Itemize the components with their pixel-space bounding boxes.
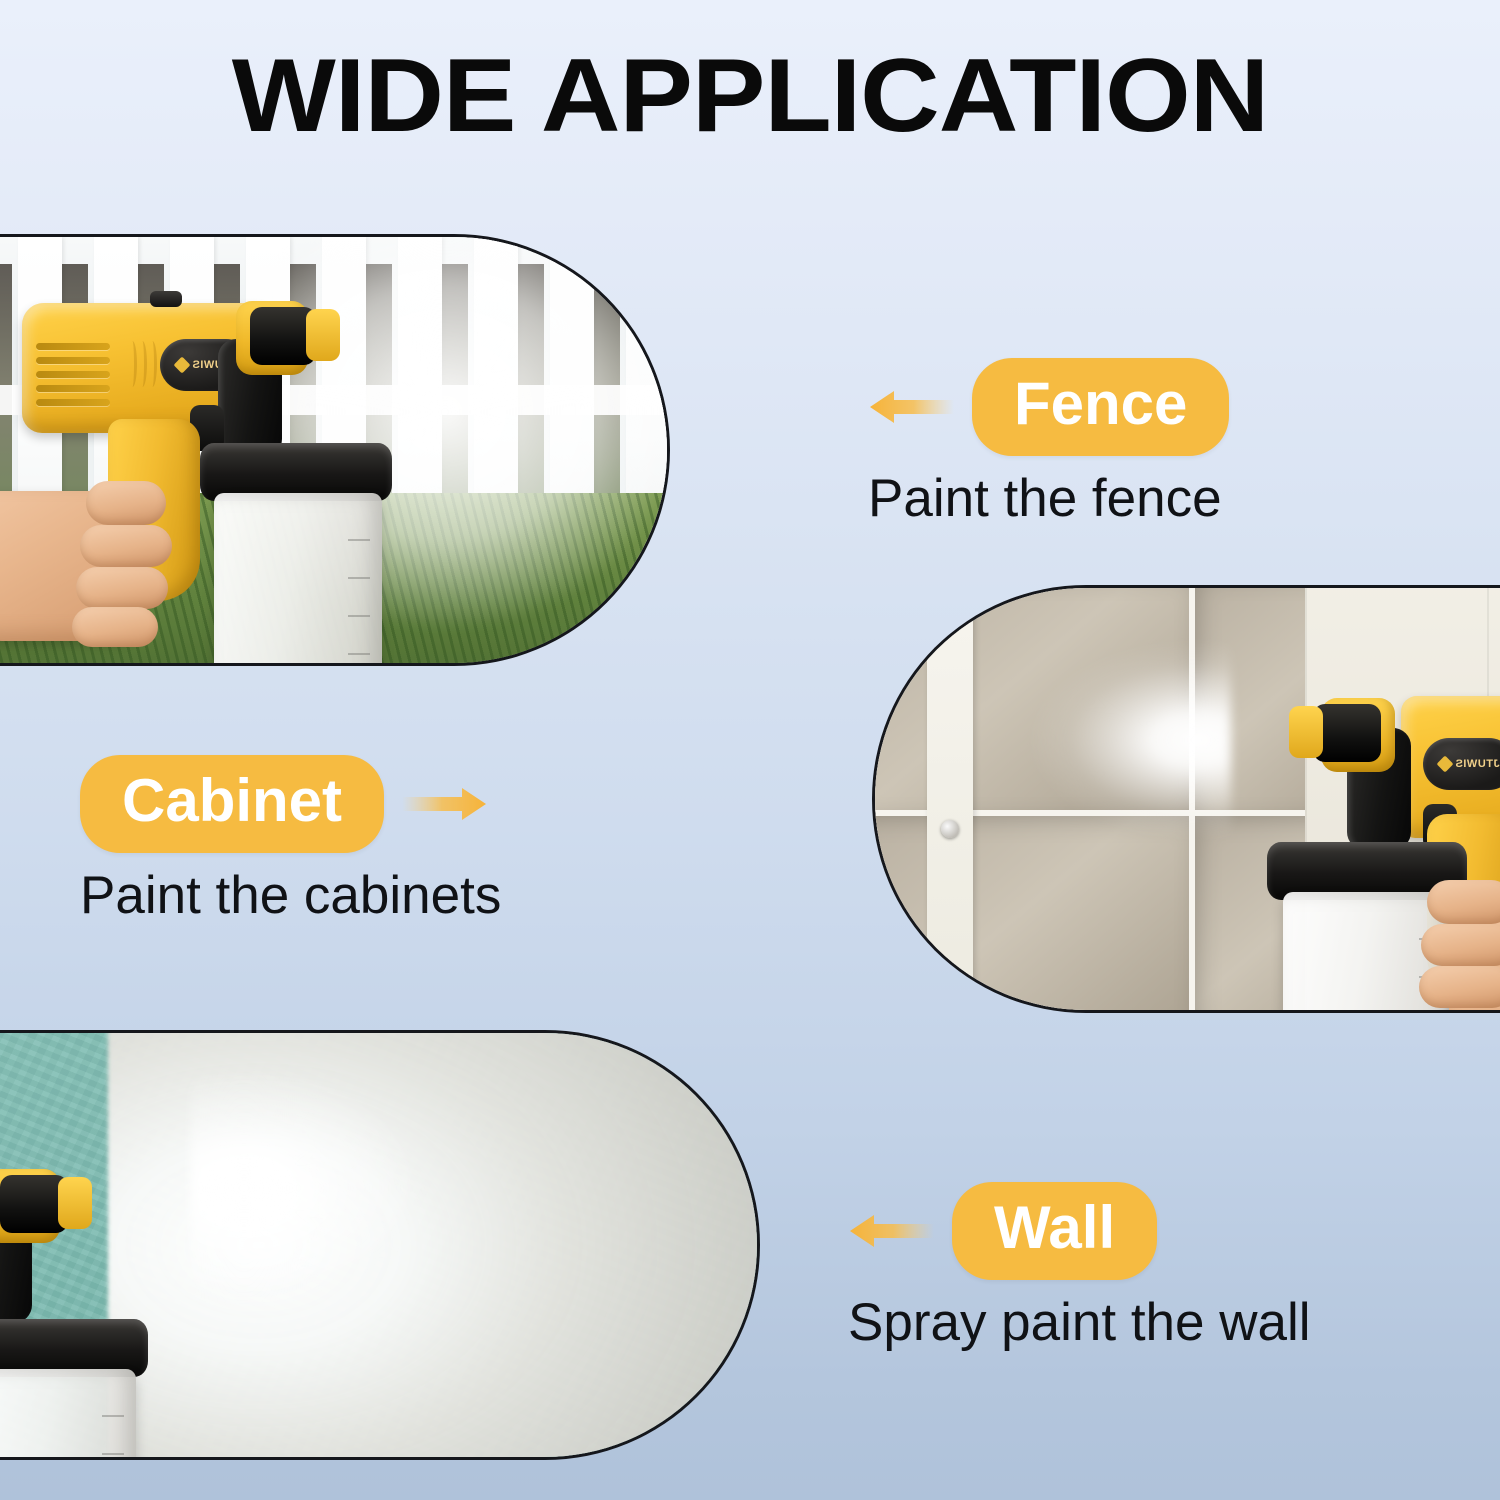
badge-fence: Fence bbox=[972, 358, 1229, 456]
brand-logo-icon bbox=[1436, 756, 1453, 773]
badge-wall: Wall bbox=[952, 1182, 1157, 1280]
vent-slats bbox=[36, 343, 110, 409]
paint-cup bbox=[0, 1369, 136, 1457]
caption-wall: Spray paint the wall bbox=[848, 1292, 1311, 1353]
caption-fence: Paint the fence bbox=[868, 468, 1229, 529]
spray-mist-wall bbox=[190, 1073, 490, 1303]
cabinet-scene: JTUWIS bbox=[875, 588, 1500, 1010]
photo-panel-wall: JTUWIS bbox=[0, 1030, 760, 1460]
photo-panel-fence: JTUWIS bbox=[0, 234, 670, 666]
label-block-cabinet: Cabinet Paint the cabinets bbox=[80, 755, 501, 926]
photo-panel-cabinet: JTUWIS bbox=[872, 585, 1500, 1013]
arrow-left-icon bbox=[848, 1211, 934, 1251]
caption-cabinet: Paint the cabinets bbox=[80, 865, 501, 926]
label-block-fence: Fence Paint the fence bbox=[868, 358, 1229, 529]
paint-cup bbox=[214, 493, 382, 663]
badge-cabinet: Cabinet bbox=[80, 755, 384, 853]
wall-scene: JTUWIS bbox=[0, 1033, 757, 1457]
label-block-wall: Wall Spray paint the wall bbox=[848, 1182, 1311, 1353]
spray-mist-cabinet bbox=[941, 640, 1231, 840]
page-title: WIDE APPLICATION bbox=[0, 44, 1500, 148]
promo-graphic: WIDE APPLICATION bbox=[0, 0, 1500, 1500]
arrow-right-icon bbox=[402, 784, 488, 824]
arrow-left-icon bbox=[868, 387, 954, 427]
brand-logo-icon bbox=[173, 357, 190, 374]
fence-scene: JTUWIS bbox=[0, 237, 667, 663]
brand-name: JTUWIS bbox=[1455, 758, 1500, 770]
